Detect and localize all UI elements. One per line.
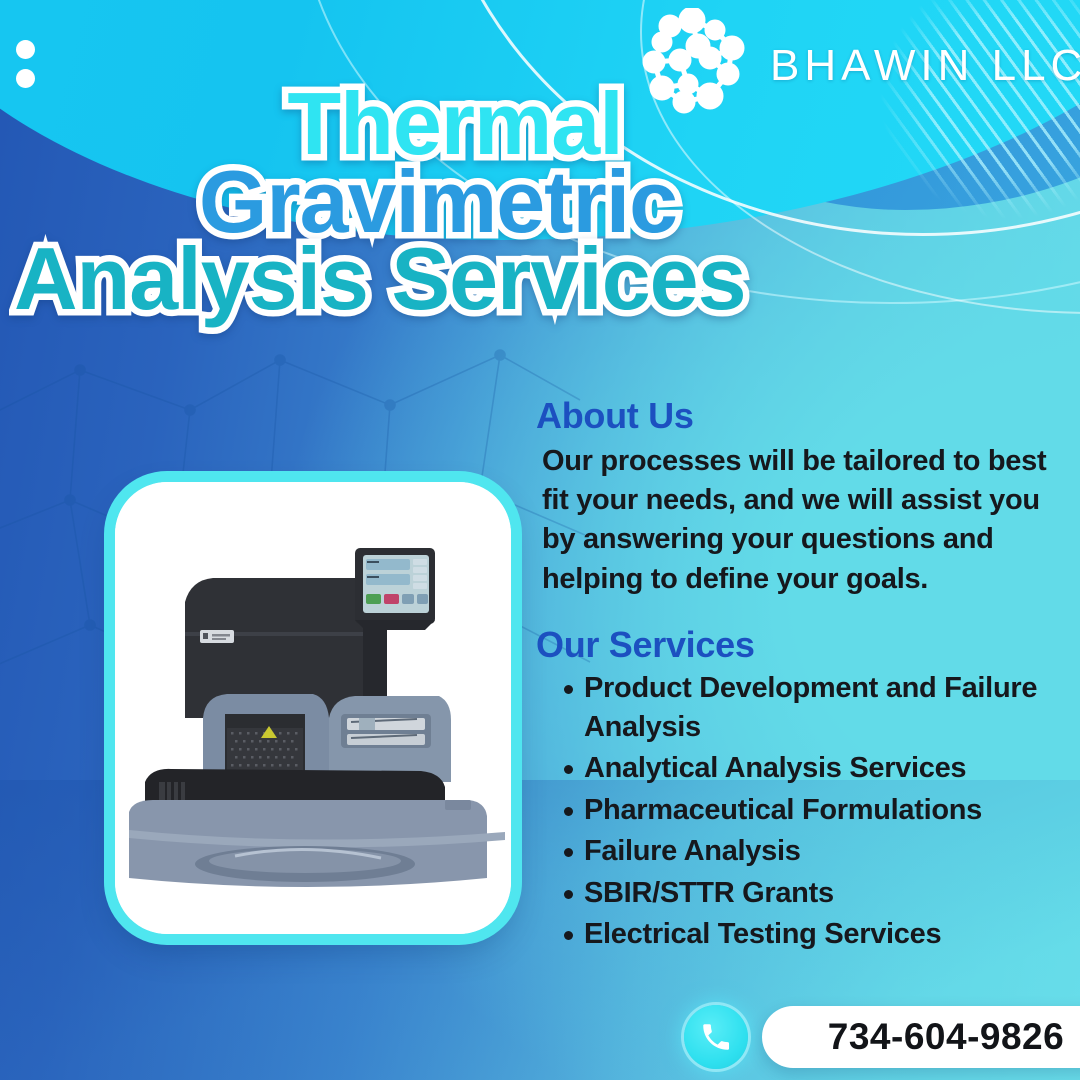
phone-number-text: 734-604-9826	[828, 1016, 1064, 1058]
phone-number-pill[interactable]: 734-604-9826	[762, 1006, 1080, 1068]
headline-line-3: Analysis Services	[0, 237, 870, 321]
contact-block[interactable]: 734-604-9826	[684, 1005, 1080, 1069]
list-item: Failure Analysis	[564, 832, 1076, 871]
services-heading: Our Services	[536, 625, 1076, 665]
content-column: About Us Our processes will be tailored …	[536, 396, 1076, 957]
headline-block: Thermal Gravimetric Analysis Services	[0, 82, 870, 321]
services-list: Product Development and Failure Analysis…	[536, 669, 1076, 954]
phone-icon-badge[interactable]	[684, 1005, 748, 1069]
list-item: Product Development and Failure Analysis	[564, 669, 1076, 746]
instrument-photo-card	[115, 482, 511, 934]
list-item: SBIR/STTR Grants	[564, 874, 1076, 913]
about-heading: About Us	[536, 396, 1076, 436]
about-body-text: Our processes will be tailored to best f…	[542, 442, 1076, 600]
list-item: Pharmaceutical Formulations	[564, 791, 1076, 830]
list-item: Analytical Analysis Services	[564, 749, 1076, 788]
corner-dot-white-one	[16, 40, 35, 59]
lab-instrument-photo	[115, 482, 511, 934]
poster-canvas: BHAWIN LLC Thermal Gravimetric Analysis …	[0, 0, 1080, 1080]
list-item: Electrical Testing Services	[564, 915, 1076, 954]
phone-handset-icon	[699, 1020, 733, 1054]
